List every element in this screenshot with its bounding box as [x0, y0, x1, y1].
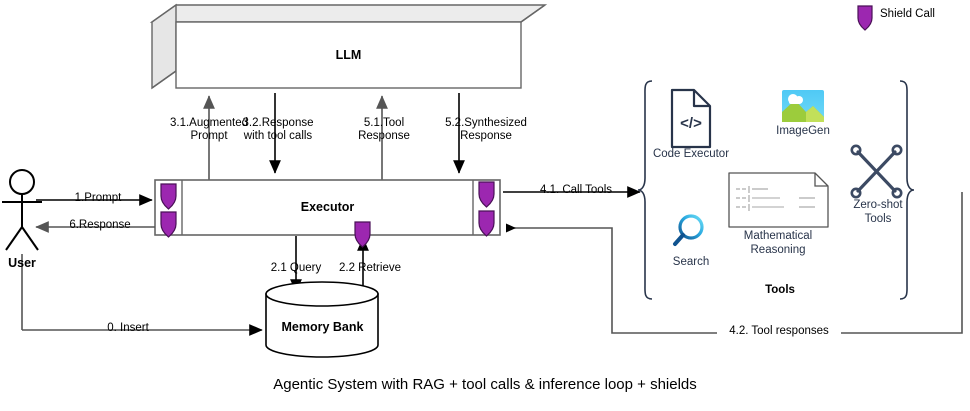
- llm-label: LLM: [276, 48, 421, 62]
- user-label: User: [0, 256, 62, 270]
- llm-node: [152, 5, 545, 88]
- legend-shield-icon: [858, 6, 872, 30]
- tool-label-code-executor: Code Executor: [641, 147, 741, 161]
- tools-group-label: Tools: [740, 283, 820, 297]
- diagram-caption: Agentic System with RAG + tool calls & i…: [0, 376, 970, 393]
- diagram-canvas: </>: [0, 0, 970, 411]
- executor-label: Executor: [255, 200, 400, 214]
- image-picture-icon: [782, 90, 824, 122]
- shield-icon-memory: [355, 222, 370, 247]
- memory-bank-label: Memory Bank: [250, 320, 395, 334]
- magnifier-icon: [675, 216, 702, 244]
- user-actor: [2, 170, 42, 250]
- crossed-wrenches-icon: [852, 146, 901, 197]
- code-document-icon: </>: [672, 90, 710, 147]
- svg-text:</>: </>: [680, 115, 702, 132]
- legend-label: Shield Call: [880, 8, 935, 20]
- formula-document-icon: [729, 173, 828, 227]
- tools-brace-left: [638, 81, 652, 299]
- tool-label-imagegen: ImageGen: [762, 124, 844, 138]
- diagram-graphics: </>: [0, 0, 970, 411]
- tool-label-zero-shot-tools: Zero-shot Tools: [838, 198, 918, 226]
- tool-label-search: Search: [654, 255, 728, 269]
- tool-label-mathematical-reasoning: Mathematical Reasoning: [728, 229, 828, 257]
- tools-brace-right: [900, 81, 914, 299]
